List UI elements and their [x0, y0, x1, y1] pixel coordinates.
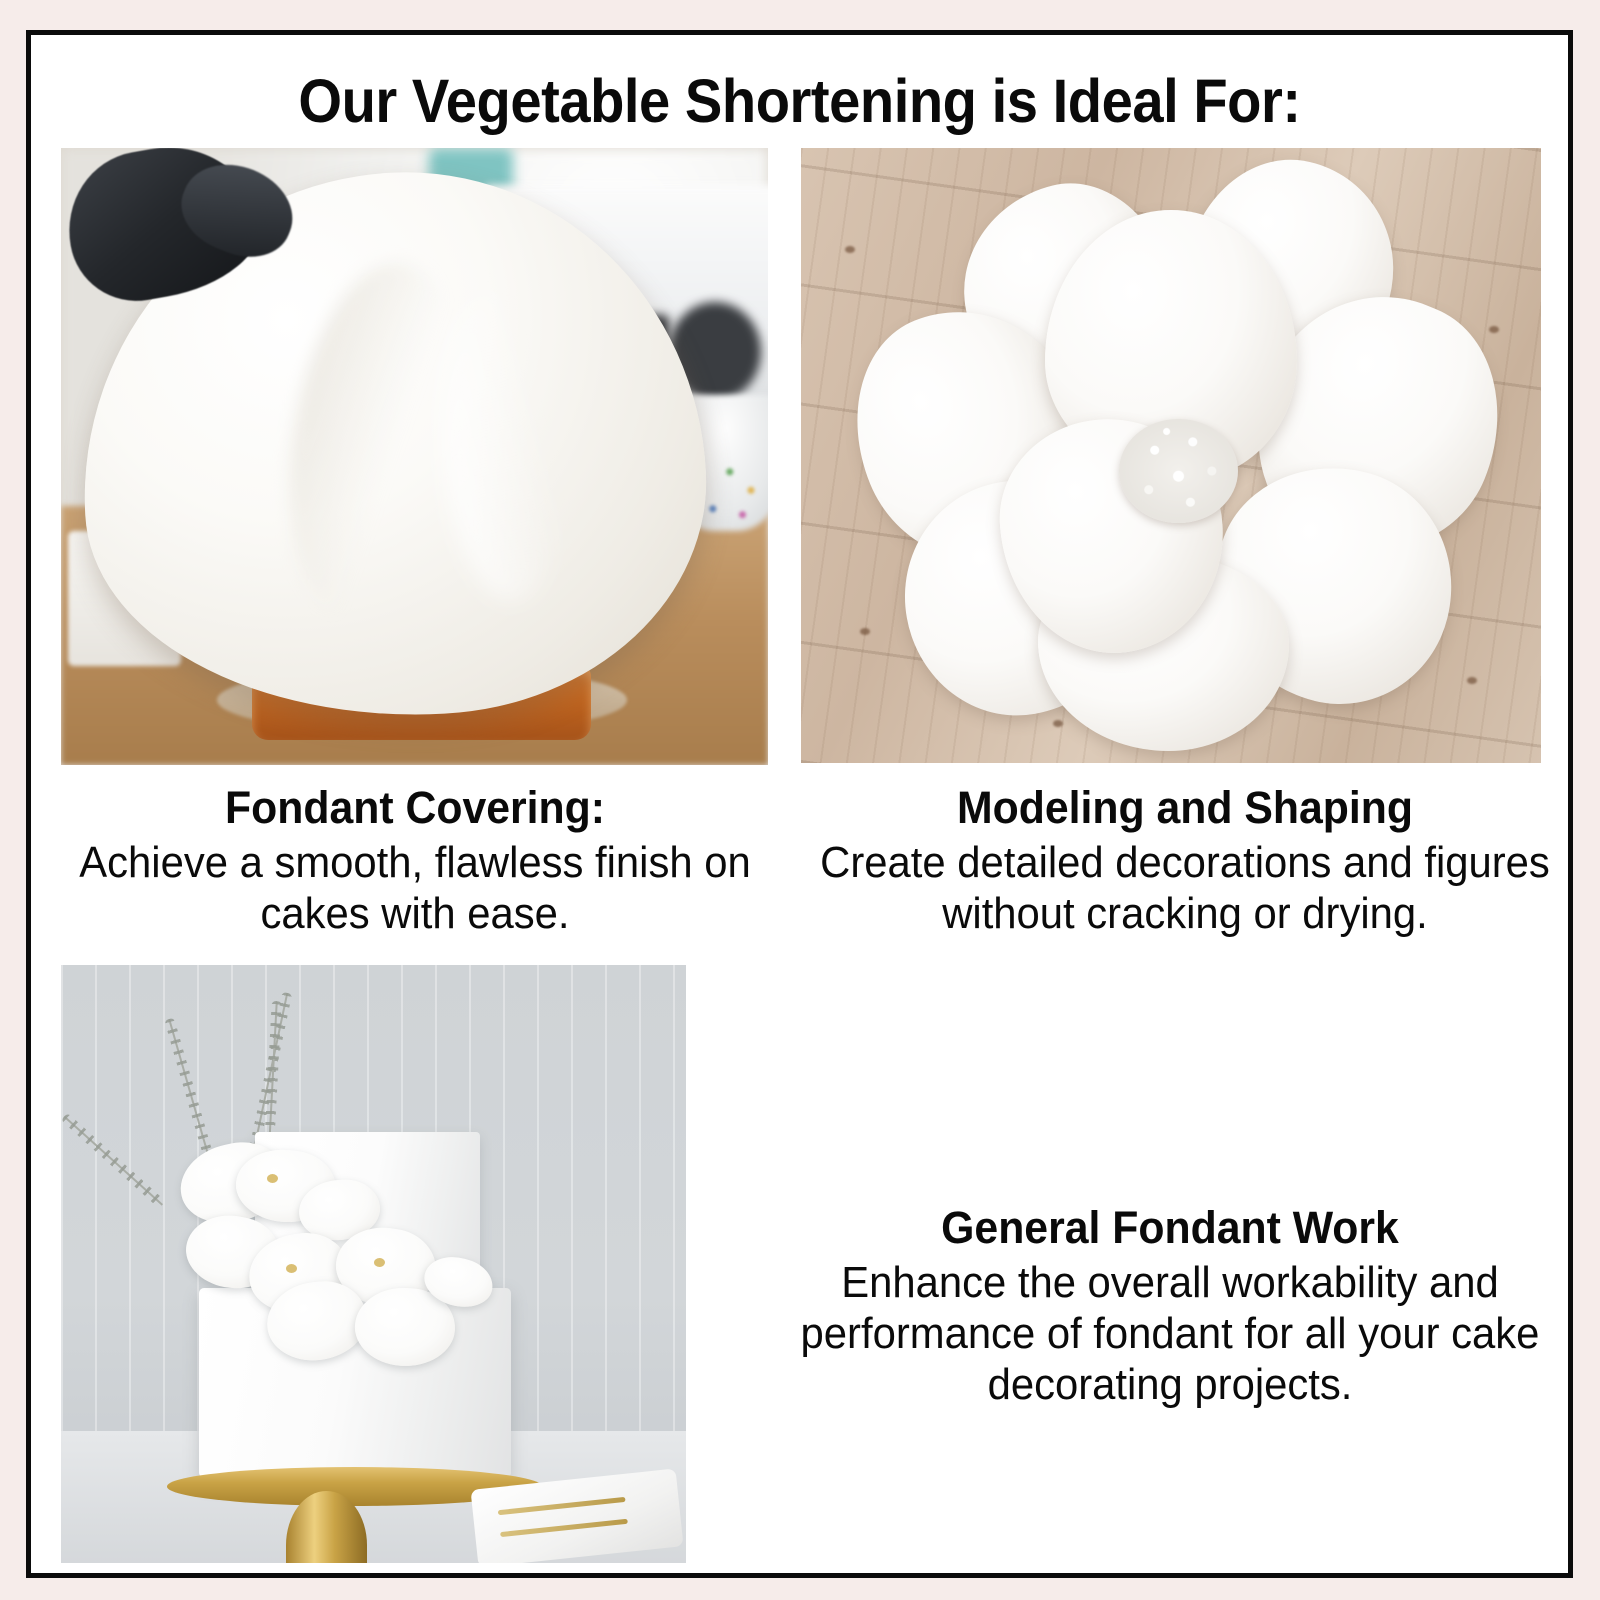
fondant-covering-heading: Fondant Covering:	[77, 783, 753, 833]
modeling-and-shaping-body: Create detailed decorations and figures …	[815, 837, 1556, 939]
orchid-center	[374, 1258, 385, 1267]
page-title: Our Vegetable Shortening is Ideal For:	[92, 69, 1506, 133]
fondant-covering-caption: Fondant Covering: Achieve a smooth, flaw…	[59, 783, 771, 939]
gold-fork	[497, 1498, 625, 1516]
modeling-and-shaping-caption: Modeling and Shaping Create detailed dec…	[795, 783, 1573, 939]
modeling-and-shaping-heading: Modeling and Shaping	[815, 783, 1556, 833]
fondant-covering-body: Achieve a smooth, flawless finish on cak…	[77, 837, 753, 939]
wood-knot	[1053, 720, 1063, 727]
content-frame: Our Vegetable Shortening is Ideal For:	[26, 30, 1573, 1578]
wood-knot	[1467, 677, 1477, 684]
general-fondant-work-caption: General Fondant Work Enhance the overall…	[761, 1203, 1573, 1410]
general-fondant-work-image	[61, 965, 686, 1563]
general-fondant-work-heading: General Fondant Work	[781, 1203, 1558, 1253]
fondant-covering-image	[61, 148, 768, 765]
orchid-center	[286, 1264, 297, 1273]
flower-stamen-center	[1119, 419, 1237, 524]
modeling-and-shaping-image	[801, 148, 1541, 763]
wood-knot	[860, 628, 870, 635]
infographic-page: Our Vegetable Shortening is Ideal For:	[0, 0, 1600, 1600]
general-fondant-work-body: Enhance the overall workability and perf…	[781, 1257, 1558, 1410]
fondant-highlight	[435, 283, 576, 604]
gold-knife	[499, 1519, 627, 1537]
